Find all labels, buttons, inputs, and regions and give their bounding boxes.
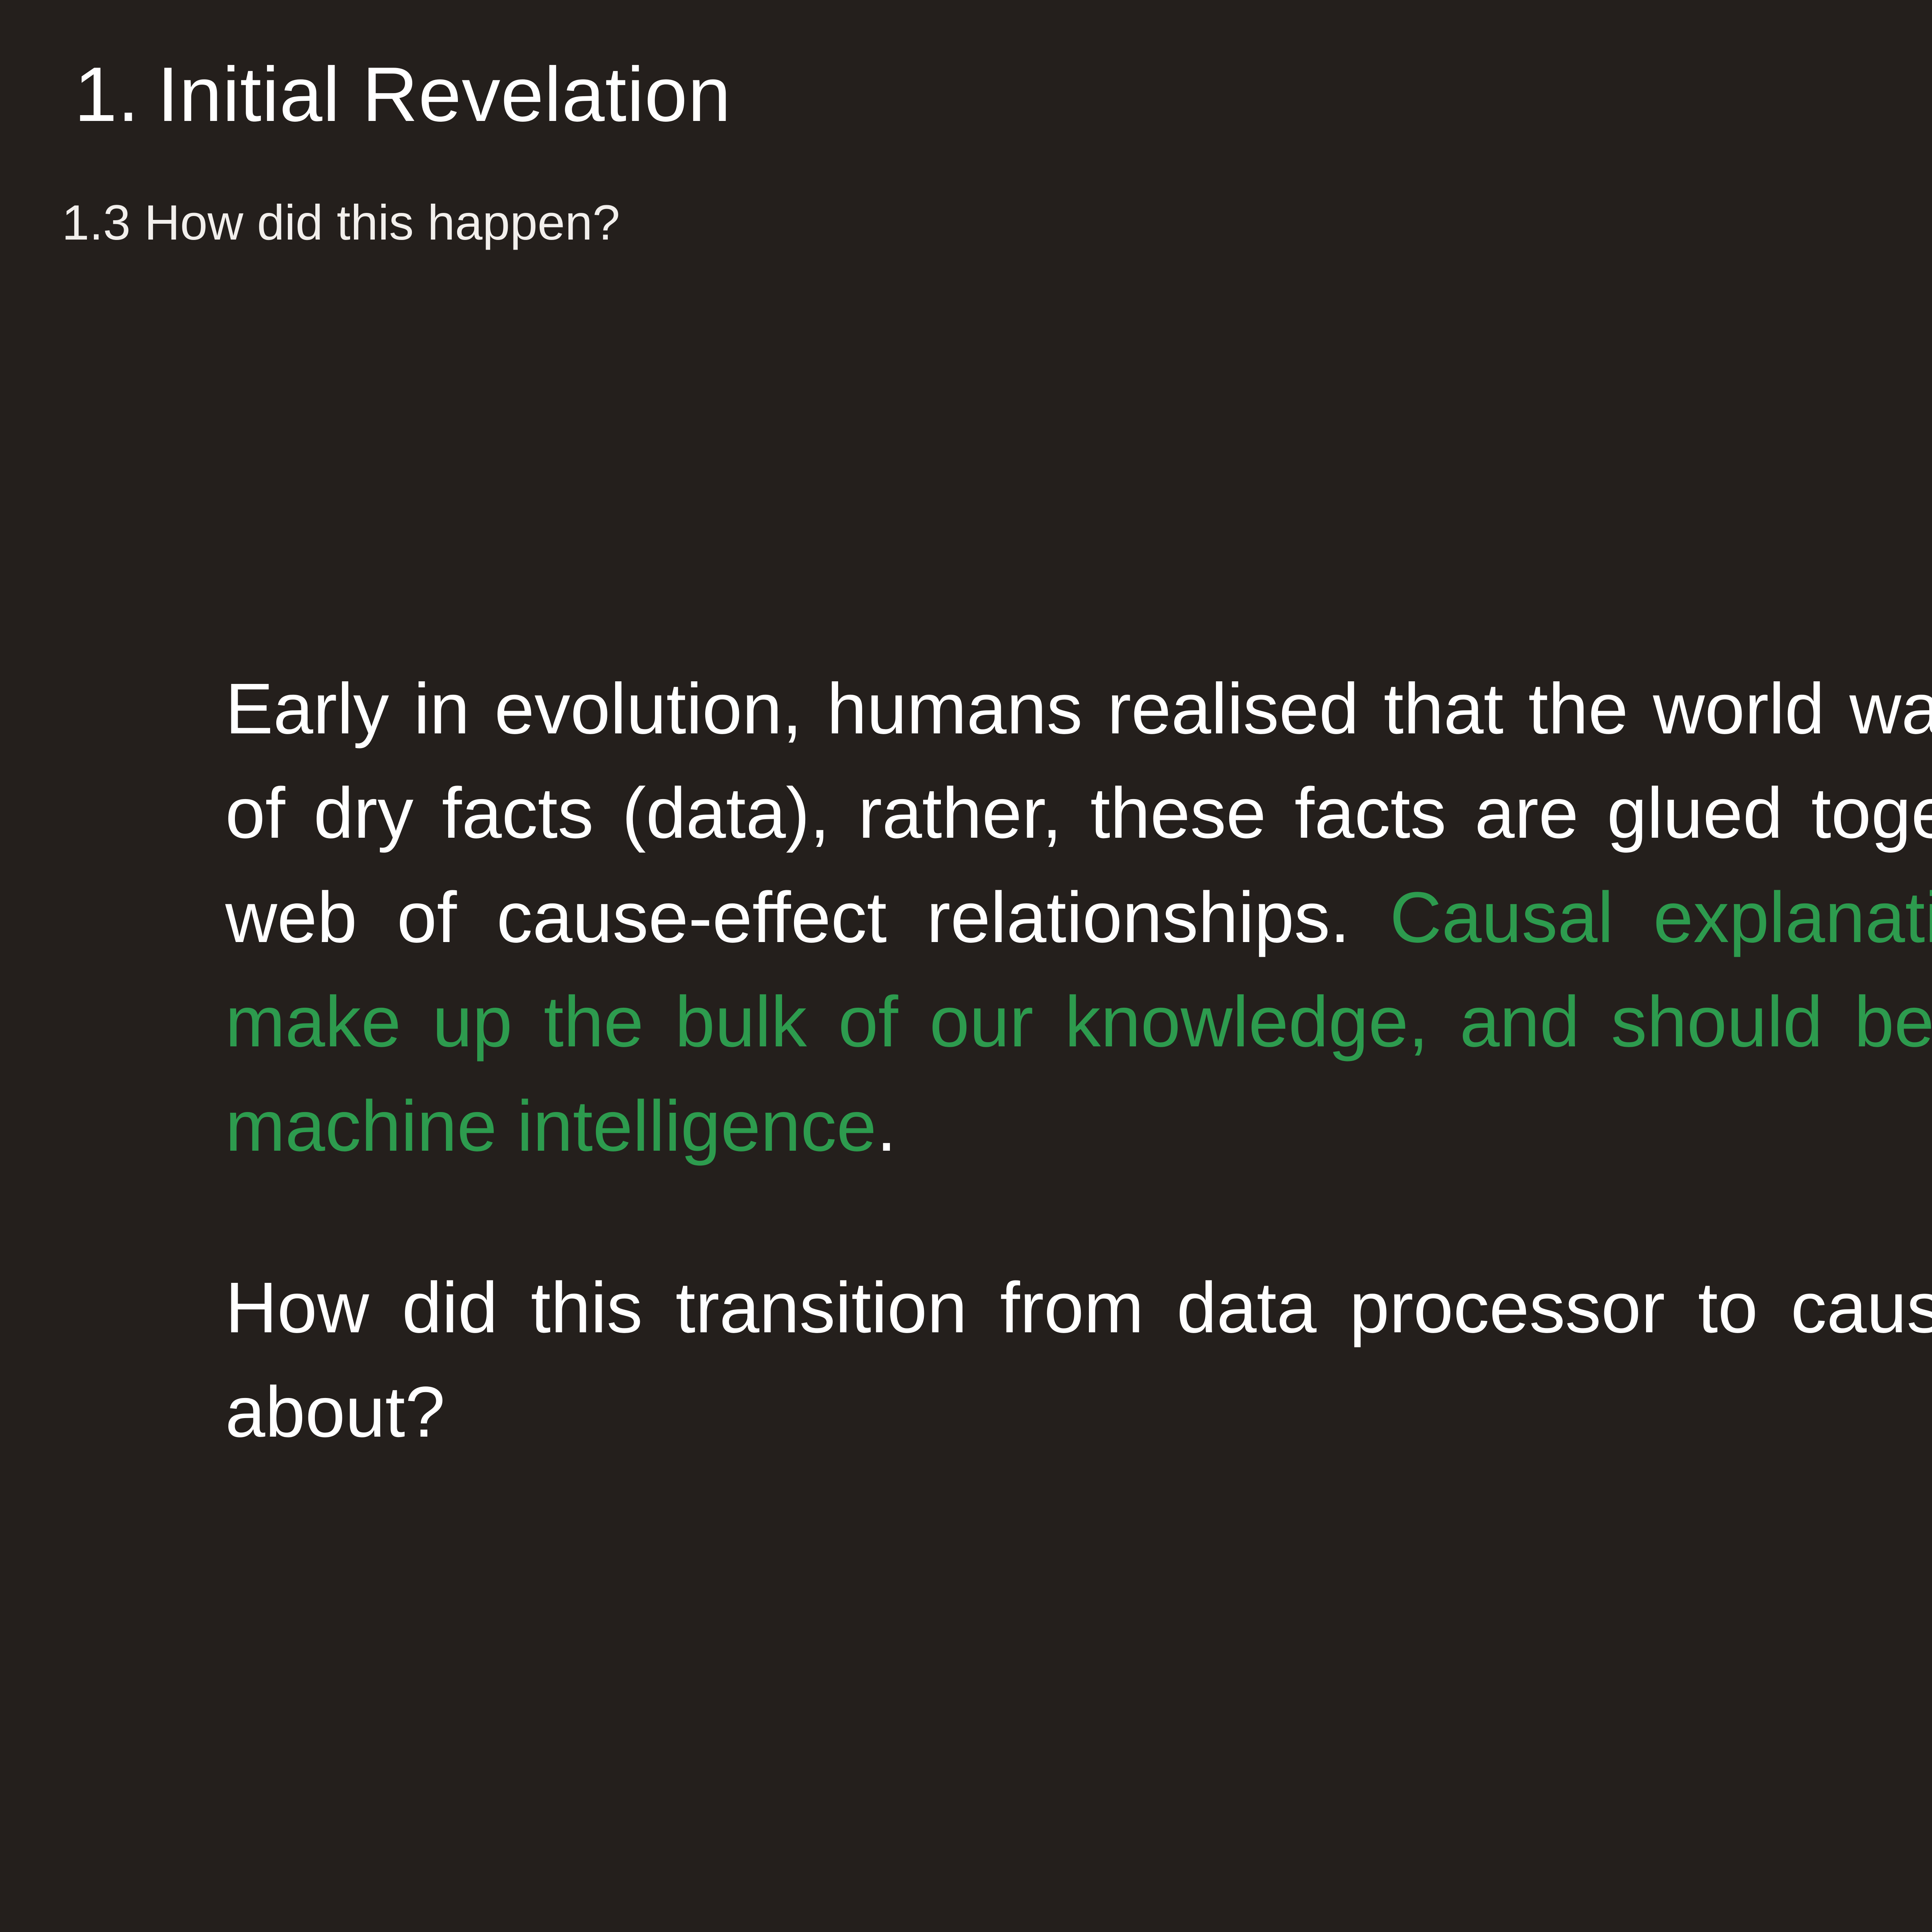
presentation-slide: 1.Initial Revelation 1.3 How did this ha…: [0, 0, 1932, 1932]
subsection-title: 1.3 How did this happen?: [62, 193, 620, 253]
body-paragraph-1: Early in evolution, humans realised that…: [225, 657, 1932, 1179]
section-number: 1.: [74, 51, 139, 138]
page-title: 1.Initial Revelation: [74, 54, 731, 135]
paragraph-1-plain-suffix: .: [876, 1086, 896, 1166]
body-paragraph-2: How did this transition from data proces…: [225, 1256, 1932, 1464]
section-title: Initial Revelation: [157, 51, 731, 138]
slide-content: Early in evolution, humans realised that…: [225, 657, 1932, 1464]
slide-header: 1.Initial Revelation 1.3 How did this ha…: [0, 0, 1932, 309]
